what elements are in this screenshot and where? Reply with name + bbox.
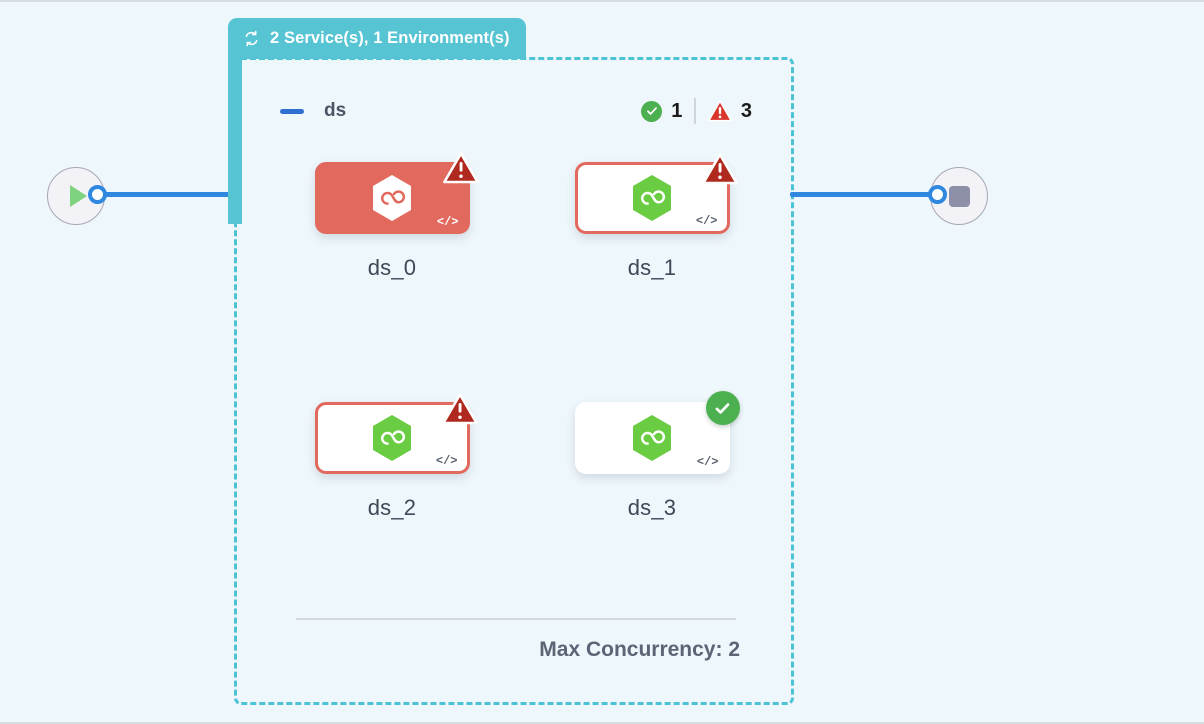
- minus-icon[interactable]: [280, 109, 304, 114]
- service-card[interactable]: </>: [315, 402, 470, 474]
- ok-count: 1: [671, 101, 682, 121]
- service-label: ds_3: [557, 495, 747, 521]
- edge-start-to-group: [97, 192, 237, 197]
- service-node[interactable]: </> ds_1: [557, 162, 747, 281]
- pipeline-canvas[interactable]: 2 Service(s), 1 Environment(s) ds 1 3: [0, 0, 1204, 724]
- code-glyph: </>: [697, 456, 719, 468]
- group-footer-divider: [296, 618, 736, 620]
- start-connector-dot[interactable]: [88, 185, 107, 204]
- group-tab-label: 2 Service(s), 1 Environment(s): [270, 29, 510, 48]
- stop-icon: [949, 186, 970, 207]
- edge-group-to-end: [790, 192, 936, 197]
- group-accent-bar: [228, 54, 242, 224]
- service-label: ds_2: [297, 495, 487, 521]
- service-card[interactable]: </>: [575, 402, 730, 474]
- warning-triangle-icon: [701, 152, 739, 186]
- service-card[interactable]: </>: [315, 162, 470, 234]
- check-circle-icon: [641, 101, 662, 122]
- warning-triangle-icon: [441, 392, 479, 426]
- service-node[interactable]: </> ds_3: [557, 402, 747, 521]
- group-status-summary: 1 3: [641, 98, 752, 124]
- group-header: ds 1 3: [280, 94, 752, 128]
- service-node[interactable]: </> ds_2: [297, 402, 487, 521]
- end-connector-dot[interactable]: [928, 185, 947, 204]
- hexagon-infinity-icon: [630, 174, 674, 222]
- group-tab[interactable]: 2 Service(s), 1 Environment(s): [228, 18, 526, 59]
- code-glyph: </>: [436, 455, 458, 467]
- status-divider: [694, 98, 696, 124]
- loop-icon: [242, 29, 261, 48]
- hexagon-infinity-icon: [370, 174, 414, 222]
- hexagon-infinity-icon: [370, 414, 414, 462]
- group-name-label: ds: [324, 100, 346, 122]
- check-icon: [706, 391, 740, 425]
- warning-triangle-icon: [708, 100, 732, 122]
- warn-count: 3: [741, 101, 752, 121]
- service-node[interactable]: </> ds_0: [297, 162, 487, 281]
- hexagon-infinity-icon: [630, 414, 674, 462]
- play-icon: [70, 185, 87, 207]
- max-concurrency-label: Max Concurrency: 2: [296, 638, 740, 662]
- code-glyph: </>: [696, 215, 718, 227]
- service-label: ds_0: [297, 255, 487, 281]
- service-card[interactable]: </>: [575, 162, 730, 234]
- warning-triangle-icon: [442, 151, 480, 185]
- code-glyph: </>: [437, 216, 459, 228]
- service-label: ds_1: [557, 255, 747, 281]
